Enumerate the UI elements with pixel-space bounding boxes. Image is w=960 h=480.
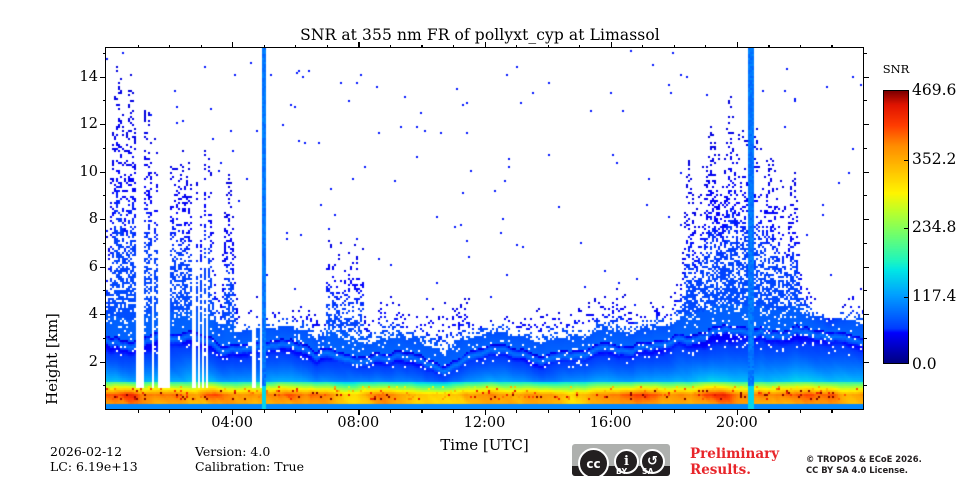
colorbar-tick-label: 469.6 bbox=[912, 81, 960, 99]
footer-date-block: 2026-02-12 LC: 6.19e+13 bbox=[50, 444, 138, 474]
y-axis-major-tick-right bbox=[863, 362, 869, 363]
x-axis-minor-tick-top bbox=[705, 45, 706, 49]
x-axis-tick-label: 12:00 bbox=[450, 415, 520, 431]
x-axis-minor-tick-top bbox=[169, 45, 170, 49]
preliminary-line-2: Results. bbox=[690, 462, 800, 478]
x-axis-minor-tick-top bbox=[138, 45, 139, 49]
y-axis-major-tick bbox=[100, 172, 106, 173]
y-axis-major-tick-right bbox=[863, 267, 869, 268]
x-axis-minor-tick bbox=[295, 409, 296, 413]
x-axis-tick-label: 08:00 bbox=[323, 415, 393, 431]
x-axis-minor-tick bbox=[768, 409, 769, 413]
snr-heatmap-canvas bbox=[106, 48, 863, 409]
x-axis-minor-tick bbox=[201, 409, 202, 413]
colorbar-tick bbox=[904, 228, 909, 229]
x-axis-minor-tick-top bbox=[295, 45, 296, 49]
x-axis-minor-tick-top bbox=[327, 45, 328, 49]
x-axis-minor-tick-top bbox=[674, 45, 675, 49]
y-axis-major-tick-right bbox=[863, 124, 869, 125]
copyright-notice: © TROPOS & ECoE 2026. CC BY SA 4.0 Licen… bbox=[806, 454, 960, 476]
x-axis-minor-tick-top bbox=[421, 45, 422, 49]
x-axis-minor-tick bbox=[169, 409, 170, 413]
y-axis-minor-tick bbox=[103, 243, 107, 244]
colorbar-tick-label: 0.0 bbox=[912, 355, 960, 373]
x-axis-minor-tick bbox=[705, 409, 706, 413]
colorbar-tick-label: 117.4 bbox=[912, 287, 960, 305]
x-axis-minor-tick bbox=[831, 409, 832, 413]
y-axis-tick-label: 10 bbox=[64, 164, 98, 180]
y-axis-minor-tick-right bbox=[863, 148, 867, 149]
footer-version: Version: 4.0 bbox=[195, 444, 304, 459]
y-axis-major-tick bbox=[100, 219, 106, 220]
footer-lidar-constant: LC: 6.19e+13 bbox=[50, 459, 138, 474]
y-axis-minor-tick bbox=[103, 195, 107, 196]
x-axis-minor-tick bbox=[800, 409, 801, 413]
x-axis-minor-tick-top bbox=[264, 45, 265, 49]
x-axis-tick-labels: 04:0008:0012:0016:0020:00 bbox=[0, 415, 960, 435]
y-axis-minor-tick bbox=[103, 53, 107, 54]
x-axis-minor-tick-top bbox=[800, 45, 801, 49]
y-axis-minor-tick-right bbox=[863, 100, 867, 101]
lidar-quicklook-figure: SNR at 355 nm FR of pollyxt_cyp at Limas… bbox=[0, 0, 960, 480]
y-axis-tick-label: 6 bbox=[64, 259, 98, 275]
x-axis-minor-tick-top bbox=[548, 45, 549, 49]
y-axis-minor-tick-right bbox=[863, 385, 867, 386]
y-axis-major-tick-right bbox=[863, 314, 869, 315]
copyright-line-2: CC BY SA 4.0 License. bbox=[806, 465, 960, 476]
y-axis-major-tick bbox=[100, 362, 106, 363]
y-axis-major-tick-right bbox=[863, 219, 869, 220]
colorbar-tick-label: 234.8 bbox=[912, 218, 960, 236]
x-axis-minor-tick bbox=[138, 409, 139, 413]
x-axis-tick-label: 04:00 bbox=[197, 415, 267, 431]
y-axis-minor-tick-right bbox=[863, 338, 867, 339]
y-axis-major-tick bbox=[100, 124, 106, 125]
x-axis-minor-tick bbox=[516, 409, 517, 413]
x-axis-minor-tick-top bbox=[768, 45, 769, 49]
colorbar-gradient bbox=[884, 91, 908, 363]
preliminary-results-notice: Preliminary Results. bbox=[690, 446, 800, 478]
y-axis-minor-tick-right bbox=[863, 53, 867, 54]
x-axis-minor-tick-top bbox=[642, 45, 643, 49]
y-axis-major-tick-right bbox=[863, 172, 869, 173]
cc-logo-icon: cc bbox=[578, 448, 609, 476]
x-axis-major-tick-top bbox=[611, 42, 612, 48]
y-axis-tick-labels: 2468101214 bbox=[60, 0, 98, 480]
y-axis-minor-tick-right bbox=[863, 243, 867, 244]
plot-area bbox=[105, 47, 864, 410]
x-axis-minor-tick bbox=[390, 409, 391, 413]
x-axis-minor-tick bbox=[674, 409, 675, 413]
y-axis-minor-tick bbox=[103, 100, 107, 101]
x-axis-minor-tick bbox=[264, 409, 265, 413]
figure-title: SNR at 355 nm FR of pollyxt_cyp at Limas… bbox=[0, 26, 960, 44]
y-axis-tick-label: 2 bbox=[64, 354, 98, 370]
x-axis-minor-tick bbox=[548, 409, 549, 413]
x-axis-minor-tick-top bbox=[453, 45, 454, 49]
x-axis-minor-tick bbox=[642, 409, 643, 413]
y-axis-major-tick bbox=[100, 267, 106, 268]
y-axis-minor-tick bbox=[103, 385, 107, 386]
colorbar bbox=[883, 90, 909, 364]
footer-date: 2026-02-12 bbox=[50, 444, 138, 459]
y-axis-label-wrapper: Height [km] bbox=[16, 150, 46, 290]
x-axis-minor-tick-top bbox=[516, 45, 517, 49]
colorbar-tick-labels: 469.6352.2234.8117.40.0 bbox=[912, 0, 960, 480]
x-axis-major-tick-top bbox=[737, 42, 738, 48]
colorbar-tick-label: 352.2 bbox=[912, 150, 960, 168]
x-axis-minor-tick bbox=[453, 409, 454, 413]
x-axis-tick-label: 20:00 bbox=[702, 415, 772, 431]
x-axis-minor-tick bbox=[421, 409, 422, 413]
y-axis-minor-tick bbox=[103, 290, 107, 291]
y-axis-minor-tick bbox=[103, 148, 107, 149]
x-axis-minor-tick bbox=[327, 409, 328, 413]
x-axis-major-tick-top bbox=[485, 42, 486, 48]
y-axis-minor-tick-right bbox=[863, 290, 867, 291]
creative-commons-badge: cc i ↺ BY SA bbox=[572, 444, 670, 476]
colorbar-tick bbox=[904, 297, 909, 298]
preliminary-line-1: Preliminary bbox=[690, 446, 800, 462]
footer-version-block: Version: 4.0 Calibration: True bbox=[195, 444, 304, 474]
y-axis-minor-tick bbox=[103, 338, 107, 339]
cc-by-label: BY bbox=[616, 467, 627, 476]
y-axis-major-tick bbox=[100, 314, 106, 315]
x-axis-major-tick-top bbox=[358, 42, 359, 48]
copyright-line-1: © TROPOS & ECoE 2026. bbox=[806, 454, 960, 465]
x-axis-minor-tick bbox=[579, 409, 580, 413]
y-axis-tick-label: 14 bbox=[64, 69, 98, 85]
x-axis-minor-tick-top bbox=[390, 45, 391, 49]
y-axis-minor-tick-right bbox=[863, 195, 867, 196]
x-axis-major-tick-top bbox=[232, 42, 233, 48]
y-axis-label: Height [km] bbox=[43, 279, 61, 439]
y-axis-major-tick bbox=[100, 77, 106, 78]
y-axis-tick-label: 4 bbox=[64, 306, 98, 322]
y-axis-tick-label: 12 bbox=[64, 116, 98, 132]
colorbar-tick bbox=[904, 160, 909, 161]
x-axis-tick-label: 16:00 bbox=[576, 415, 646, 431]
x-axis-minor-tick-top bbox=[831, 45, 832, 49]
y-axis-tick-label: 8 bbox=[64, 211, 98, 227]
x-axis-minor-tick-top bbox=[579, 45, 580, 49]
cc-sa-label: SA bbox=[642, 467, 654, 476]
footer-calibration: Calibration: True bbox=[195, 459, 304, 474]
y-axis-major-tick-right bbox=[863, 77, 869, 78]
x-axis-minor-tick-top bbox=[201, 45, 202, 49]
